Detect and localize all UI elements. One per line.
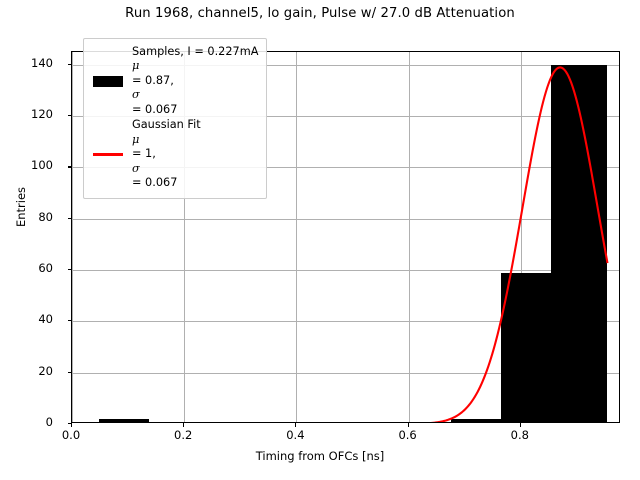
y-tick-label: 140 [31, 56, 53, 70]
x-tick-mark [71, 423, 72, 427]
y-tick-label: 40 [38, 312, 53, 326]
legend-line-swatch-icon [91, 153, 125, 155]
x-tick-mark [183, 423, 184, 427]
legend-fit-line2: μ = 1, σ = 0.067 [132, 133, 201, 191]
y-tick-label: 0 [46, 415, 53, 429]
legend-label-samples: Samples, I = 0.227mA μ = 0.87, σ = 0.067 [132, 45, 258, 117]
y-tick-mark [68, 372, 72, 373]
y-tick-label: 60 [38, 261, 53, 275]
legend-samples-mu-value: = 0.87, [132, 74, 258, 88]
y-tick-mark [68, 115, 72, 116]
sigma-symbol: σ [132, 88, 140, 101]
y-axis-label: Entries [14, 132, 28, 282]
y-tick-label: 120 [31, 107, 53, 121]
x-axis-label: Timing from OFCs [ns] [0, 449, 640, 463]
y-tick-mark [68, 218, 72, 219]
x-tick-mark [295, 423, 296, 427]
matplotlib-figure: Run 1968, channel5, lo gain, Pulse w/ 27… [0, 0, 640, 480]
mu-symbol: μ [132, 59, 139, 72]
page-title: Run 1968, channel5, lo gain, Pulse w/ 27… [0, 6, 640, 21]
legend-fit-mu-value: = 1, [132, 147, 201, 161]
legend-patch-swatch-icon [91, 76, 125, 87]
y-tick-mark [68, 320, 72, 321]
mu-symbol: μ [132, 133, 139, 146]
x-tick-label: 0.4 [265, 428, 325, 442]
legend-label-fit: Gaussian Fit μ = 1, σ = 0.067 [132, 118, 201, 190]
y-tick-label: 80 [38, 210, 53, 224]
y-tick-label: 100 [31, 158, 53, 172]
sigma-symbol: σ [132, 162, 140, 175]
x-tick-mark [408, 423, 409, 427]
x-tick-label: 0.8 [490, 428, 550, 442]
legend-item-samples: Samples, I = 0.227mA μ = 0.87, σ = 0.067 [91, 45, 258, 117]
legend-fit-sigma-value: = 0.067 [132, 176, 201, 190]
legend-fit-line1: Gaussian Fit [132, 118, 201, 132]
legend-item-fit: Gaussian Fit μ = 1, σ = 0.067 [91, 118, 258, 190]
legend-samples-line2: μ = 0.87, σ = 0.067 [132, 59, 258, 117]
x-tick-label: 0.0 [41, 428, 101, 442]
x-tick-label: 0.6 [378, 428, 438, 442]
legend-samples-sigma-value: = 0.067 [132, 103, 258, 117]
y-tick-mark [68, 64, 72, 65]
legend: Samples, I = 0.227mA μ = 0.87, σ = 0.067… [83, 38, 267, 199]
x-tick-mark [520, 423, 521, 427]
y-tick-label: 20 [38, 364, 53, 378]
x-tick-label: 0.2 [153, 428, 213, 442]
y-tick-mark [68, 166, 72, 167]
y-tick-mark [68, 269, 72, 270]
legend-samples-line1: Samples, I = 0.227mA [132, 45, 258, 59]
